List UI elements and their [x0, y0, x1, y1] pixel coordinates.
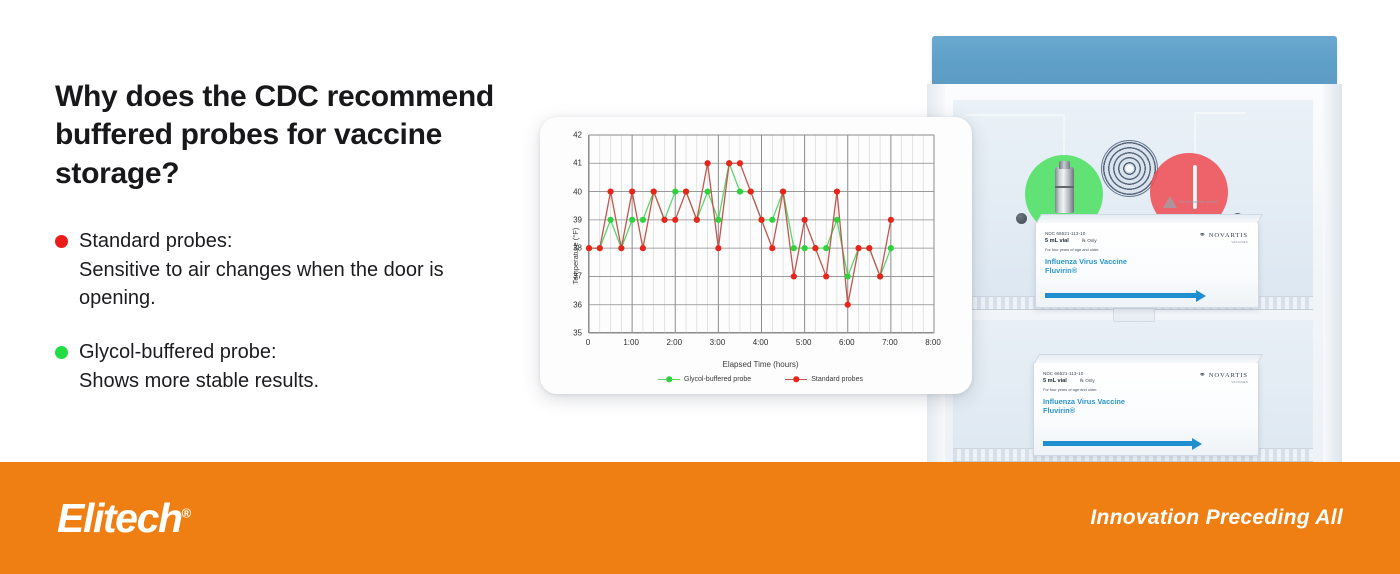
y-tick-label: 37 — [573, 272, 582, 281]
red-dot-icon — [55, 235, 68, 248]
elitech-logo: Elitech® — [57, 495, 191, 542]
page-title: Why does the CDC recommend buffered prob… — [55, 78, 525, 193]
vial-size: 5 mL vial — [1045, 238, 1069, 244]
registered-mark-icon: ® — [182, 505, 192, 520]
x-tick-label: 4:00 — [753, 338, 769, 347]
airflow-warning-text: Do not block the air flow — [1179, 200, 1239, 204]
company-tagline: Innovation Preceding All — [1090, 506, 1343, 530]
vaccine-box-upper: NDC 66521-113-10 5 mL vial ℞ Only For fo… — [1035, 222, 1259, 308]
vaccine-box-top-face — [1034, 354, 1263, 363]
intro-text-column: Why does the CDC recommend buffered prob… — [55, 78, 525, 421]
blue-arrow-graphic — [1043, 441, 1193, 446]
vaccine-box-lower: NDC 66521-113-10 5 mL vial ℞ Only For fo… — [1033, 362, 1259, 456]
glycol-buffered-bottle-icon — [1055, 167, 1074, 213]
product-name-line1: Influenza Virus Vaccine — [1043, 397, 1125, 406]
x-axis-title: Elapsed Time (hours) — [588, 360, 933, 369]
chart-series-svg — [589, 135, 934, 333]
red-dot-marker-icon — [785, 379, 807, 380]
bullet-body: Sensitive to air changes when the door i… — [79, 259, 444, 309]
novartis-sub-label: VACCINES — [1232, 240, 1249, 244]
novartis-wordmark: NOVARTIS — [1209, 372, 1248, 379]
x-tick-label: 1:00 — [623, 338, 639, 347]
y-tick-label: 36 — [573, 300, 582, 309]
y-tick-label: 40 — [573, 187, 582, 196]
product-name: Influenza Virus Vaccine Fluvirin® — [1045, 257, 1249, 275]
temperature-chart-card: Temperature (°F) 3536373839404142 01:002… — [540, 117, 972, 394]
fridge-top-panel — [932, 36, 1337, 86]
logo-text: Elitech — [57, 495, 182, 541]
vial-size: 5 mL vial — [1043, 378, 1067, 384]
bullet-body: Shows more stable results. — [79, 370, 319, 392]
green-dot-marker-icon — [658, 379, 680, 380]
novartis-wordmark: NOVARTIS — [1209, 232, 1248, 239]
green-dot-icon — [55, 346, 68, 359]
bullet-title: Standard probes: — [79, 230, 232, 252]
y-tick-label: 39 — [573, 215, 582, 224]
bullet-title: Glycol-buffered probe: — [79, 341, 277, 363]
vaccine-refrigerator-photo: Do not block the air flow NDC 66521-113-… — [905, 0, 1400, 462]
x-tick-label: 3:00 — [710, 338, 726, 347]
x-tick-label: 2:00 — [666, 338, 682, 347]
y-tick-label: 35 — [573, 329, 582, 338]
product-name: Influenza Virus Vaccine Fluvirin® — [1043, 397, 1249, 415]
x-tick-label: 6:00 — [839, 338, 855, 347]
list-item: Glycol-buffered probe: Shows more stable… — [55, 338, 525, 395]
legend-label: Glycol-buffered probe — [684, 376, 751, 383]
x-tick-label: 7:00 — [882, 338, 898, 347]
product-name-line2: Fluvirin® — [1043, 406, 1075, 415]
x-tick-label: 8:00 — [925, 338, 941, 347]
bullet-list: Standard probes: Sensitive to air change… — [55, 227, 525, 395]
legend-item-standard: Standard probes — [785, 376, 863, 383]
rx-only-label: ℞ Only — [1080, 378, 1095, 384]
bullet-item-standard-probes: Standard probes: Sensitive to air change… — [79, 227, 525, 312]
y-tick-label: 38 — [573, 244, 582, 253]
novartis-logo: ⚭ NOVARTIS — [1199, 231, 1248, 239]
x-tick-label: 0 — [586, 338, 590, 347]
blue-arrow-graphic — [1045, 293, 1197, 298]
bullet-item-glycol-probe: Glycol-buffered probe: Shows more stable… — [79, 338, 319, 395]
chart-plot-area — [588, 135, 933, 333]
legend-item-glycol: Glycol-buffered probe — [658, 376, 751, 383]
list-item: Standard probes: Sensitive to air change… — [55, 227, 525, 312]
chart-legend: Glycol-buffered probe Standard probes — [588, 376, 933, 383]
shelf-clip — [1113, 308, 1155, 322]
vaccine-box-top-face — [1036, 214, 1263, 223]
x-tick-label: 5:00 — [796, 338, 812, 347]
fridge-right-edge — [1323, 84, 1342, 462]
age-note: For four years of age and older. — [1045, 247, 1249, 252]
product-name-line1: Influenza Virus Vaccine — [1045, 257, 1127, 266]
y-tick-label: 41 — [573, 159, 582, 168]
novartis-sub-label: VACCINES — [1232, 380, 1249, 384]
product-name-line2: Fluvirin® — [1045, 266, 1077, 275]
shelf-knob-left — [1016, 213, 1027, 224]
novartis-logo: ⚭ NOVARTIS — [1199, 371, 1248, 379]
novartis-mark-icon: ⚭ — [1199, 371, 1206, 379]
warning-triangle-icon — [1163, 196, 1177, 208]
rx-only-label: ℞ Only — [1082, 238, 1097, 244]
novartis-mark-icon: ⚭ — [1199, 231, 1206, 239]
legend-label: Standard probes — [811, 376, 863, 383]
y-tick-label: 42 — [573, 131, 582, 140]
age-note: For four years of age and older. — [1043, 387, 1249, 392]
